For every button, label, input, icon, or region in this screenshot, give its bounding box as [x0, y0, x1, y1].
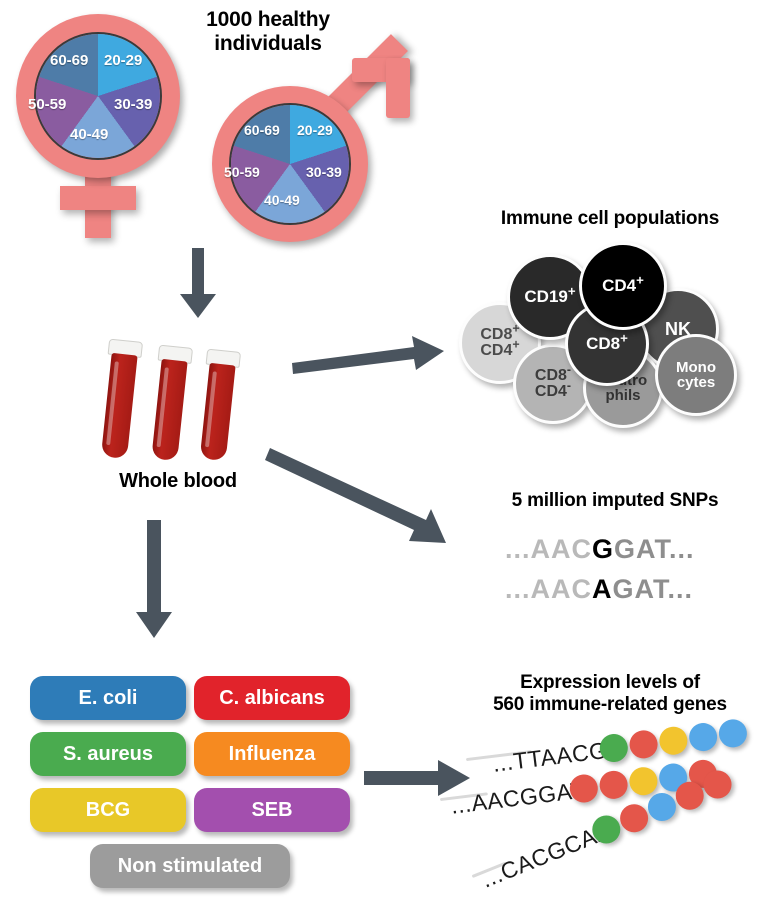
strand-bead [628, 766, 659, 797]
immune-heading: Immune cell populations [450, 208, 770, 230]
pie-label-60-69: 60-69 [50, 52, 88, 69]
cohort-heading: 1000 healthy individuals [168, 8, 368, 56]
figure-canvas: 1000 healthy individuals 20-29 30-39 40-… [0, 0, 771, 922]
stimulus-seb[interactable]: SEB [194, 788, 350, 832]
snp-sequence-row: ...AACGGAT... [505, 534, 695, 565]
stimulus-influenza[interactable]: Influenza [194, 732, 350, 776]
cell-monocytes: Mono cytes [655, 334, 737, 416]
snp-variant: G [592, 534, 614, 564]
pie-label-20-29: 20-29 [297, 122, 333, 138]
stimulus-label: S. aureus [63, 743, 153, 766]
cell-label-line2: CD4+ [480, 343, 519, 359]
cohort-heading-line2: individuals [168, 32, 368, 56]
snp-suffix: GAT... [613, 574, 694, 604]
cohort-heading-line1: 1000 healthy [168, 8, 368, 32]
blood-tube [195, 349, 241, 470]
cell-label: CD8+ [586, 335, 628, 352]
snps-heading: 5 million imputed SNPs [455, 490, 771, 512]
cell-label: CD4+ [602, 277, 644, 294]
stimulus-label: BCG [86, 799, 130, 822]
stimulus-bcg[interactable]: BCG [30, 788, 186, 832]
whole-blood-graphic [95, 330, 265, 460]
strand-bead [598, 769, 629, 800]
male-symbol: 20-29 30-39 40-49 50-59 60-69 [198, 58, 418, 258]
stimulus-label: Influenza [229, 743, 316, 766]
pie-label-30-39: 30-39 [114, 96, 152, 113]
pie-label-60-69: 60-69 [244, 122, 280, 138]
pie-label-40-49: 40-49 [264, 192, 300, 208]
pie-label-30-39: 30-39 [306, 164, 342, 180]
cell-label: CD19+ [524, 288, 575, 305]
strand-bead [717, 718, 748, 749]
cell-label-line2: CD4- [535, 384, 571, 400]
stimulus-e-coli[interactable]: E. coli [30, 676, 186, 720]
stimulus-c-albicans[interactable]: C. albicans [194, 676, 350, 720]
expression-heading: Expression levels of 560 immune-related … [450, 672, 770, 716]
stimulus-s-aureus[interactable]: S. aureus [30, 732, 186, 776]
stimuli-panel: E. coli C. albicans S. aureus Influenza … [30, 676, 350, 896]
blood-tube [97, 339, 143, 460]
stimulus-non-stimulated[interactable]: Non stimulated [90, 844, 290, 888]
cell-label-line1: CD8- [535, 368, 571, 384]
strand-bead [628, 729, 659, 760]
pie-label-50-59: 50-59 [224, 164, 260, 180]
arrow-blood-to-stimuli [134, 520, 174, 640]
cell-label-line2: phils [605, 388, 640, 403]
expression-heading-line1: Expression levels of [450, 672, 770, 694]
arrow-blood-to-snps [268, 440, 468, 550]
stimulus-label: SEB [251, 799, 292, 822]
strand-bead [658, 725, 689, 756]
blood-tube [147, 345, 193, 466]
snp-variant: A [592, 574, 613, 604]
female-stem-cross [60, 186, 136, 210]
male-arrowhead-vertical [386, 58, 410, 118]
stimulus-label: C. albicans [219, 687, 325, 710]
cell-label-line2: cytes [677, 375, 715, 390]
pie-label-40-49: 40-49 [70, 126, 108, 143]
cell-label-line1: Mono [676, 360, 716, 375]
stimulus-label: E. coli [79, 687, 138, 710]
arrow-blood-to-immune [292, 330, 452, 380]
snp-suffix: GAT... [614, 534, 695, 564]
cell-cd4pos: CD4+ [579, 242, 667, 330]
pie-label-20-29: 20-29 [104, 52, 142, 69]
pie-label-50-59: 50-59 [28, 96, 66, 113]
snp-sequence-row: ...AACAGAT... [505, 574, 693, 605]
strand-bead [688, 721, 719, 752]
arrow-cohort-to-blood [178, 248, 218, 320]
snp-prefix: ...AAC [505, 534, 592, 564]
female-symbol: 20-29 30-39 40-49 50-59 60-69 [8, 8, 188, 238]
whole-blood-label: Whole blood [78, 470, 278, 493]
expression-strands: ...TTAACGG ...AACGGAT ...CACGCAA [450, 740, 771, 910]
immune-cell-cluster: CD8+ CD4+ CD19+ CD4+ NK CD8+ CD8- CD4- N… [455, 240, 765, 410]
expression-heading-line2: 560 immune-related genes [450, 694, 770, 716]
stimulus-label: Non stimulated [118, 855, 262, 878]
snp-prefix: ...AAC [505, 574, 592, 604]
